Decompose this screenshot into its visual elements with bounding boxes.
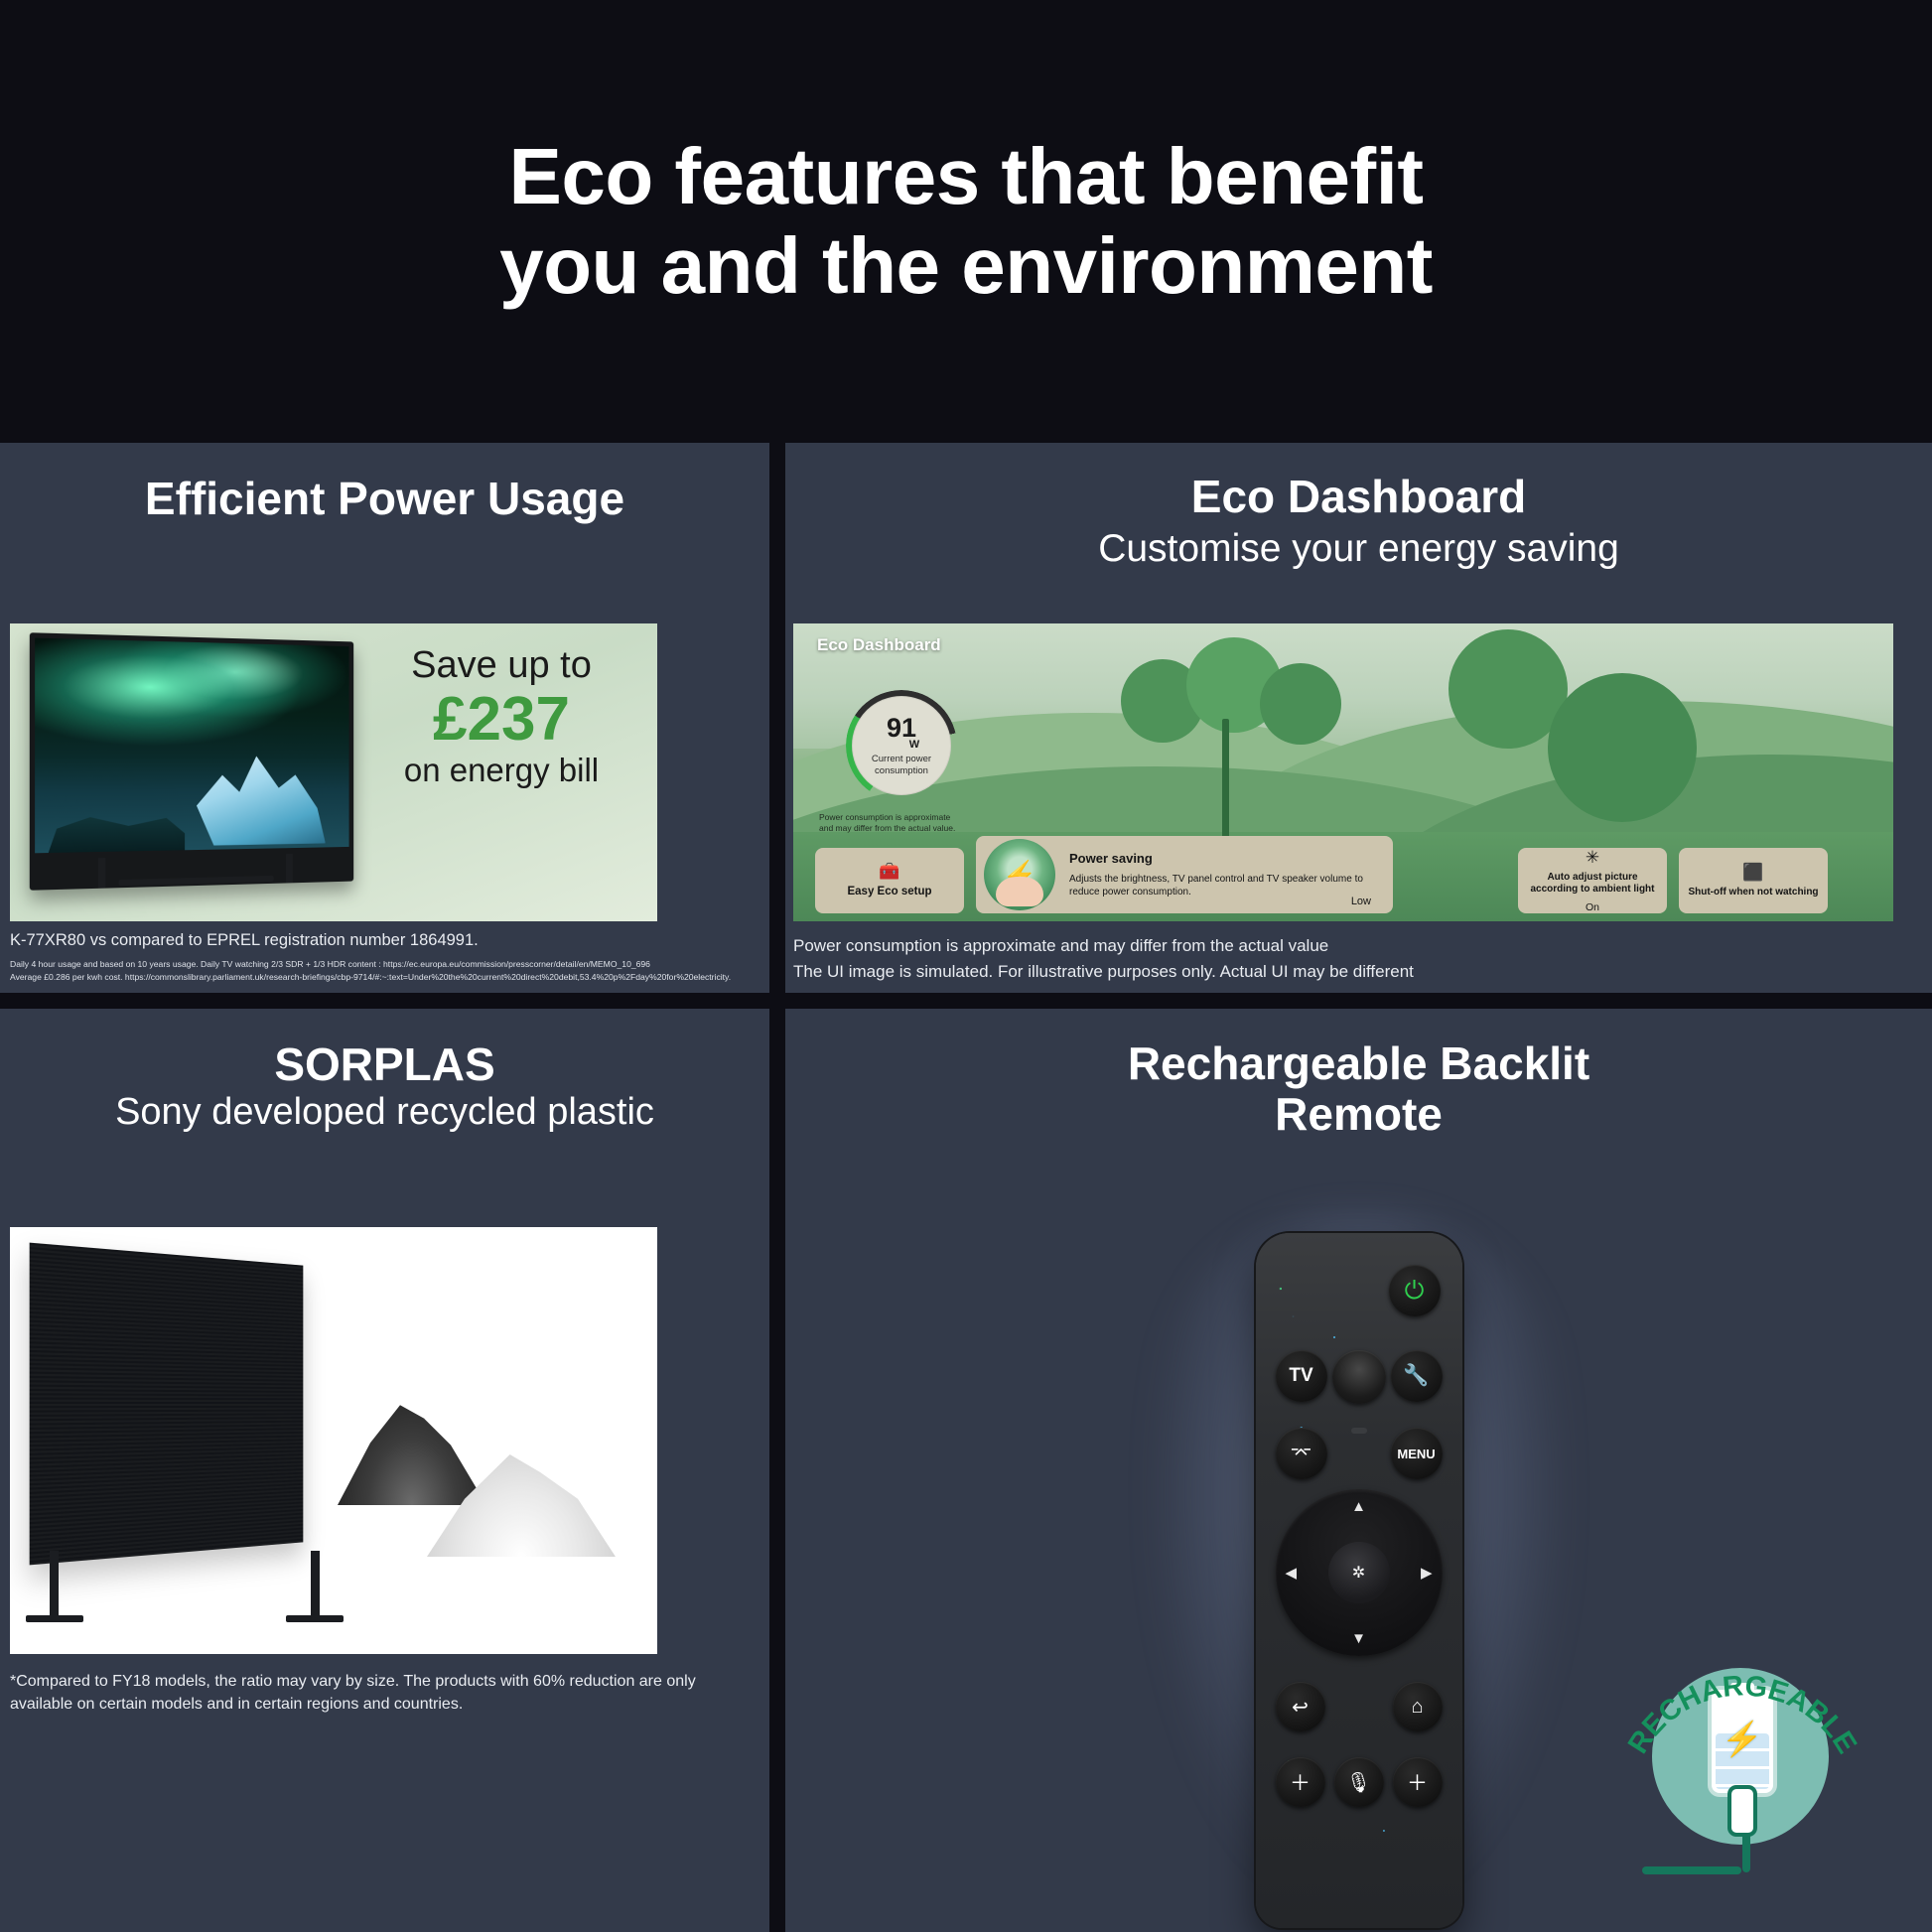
gauge-caption: Current power consumption <box>872 754 931 777</box>
ir-indicator <box>1351 1428 1367 1434</box>
savings-amount: £237 <box>363 687 639 752</box>
feature-grid: Efficient Power Usage Save up to <box>0 443 1932 1932</box>
remote-title-line-2: Remote <box>785 1089 1932 1140</box>
plus-icon-volume: ＋ <box>1290 1767 1311 1797</box>
sorplas-footnote-line-2: available on certain models and in certa… <box>10 1693 705 1716</box>
card-shut-off-not-watching[interactable]: ⬛ Shut-off when not watching <box>1679 848 1828 913</box>
hands-shape <box>996 877 1043 906</box>
gauge-face: 91 W Current power consumption <box>852 696 951 795</box>
gauge-value: 91 <box>887 715 916 742</box>
power-saving-text: Power saving Adjusts the brightness, TV … <box>1069 851 1367 899</box>
settings-button[interactable]: 🔧 <box>1391 1350 1443 1402</box>
volume-up-button[interactable]: ＋ <box>1276 1757 1325 1807</box>
dpad-left[interactable]: ◀ <box>1286 1564 1298 1582</box>
hero-banner: Eco features that benefit you and the en… <box>0 0 1932 443</box>
tree-trunk <box>1222 719 1229 842</box>
power-consumption-gauge: 91 W Current power consumption <box>846 690 957 801</box>
panel-subtitle-sorplas: Sony developed recycled plastic <box>0 1091 769 1134</box>
dpad-control[interactable]: ▲ ▼ ◀ ▶ ✲ <box>1276 1489 1443 1656</box>
remote-title-line-1: Rechargeable Backlit <box>785 1038 1932 1089</box>
footnote-line-2: Average £0.286 per kwh cost. https://com… <box>10 971 759 984</box>
panel-subtitle-eco-dashboard: Customise your energy saving <box>785 527 1932 571</box>
tv-foot-bar-right <box>286 1615 344 1622</box>
back-arrow-icon: ↩ <box>1292 1695 1309 1720</box>
hero-line-1: Eco features that benefit <box>499 132 1433 221</box>
panel-eco-dashboard: Eco Dashboard Customise your energy savi… <box>785 443 1932 993</box>
screen-off-icon: ⬛ <box>1742 864 1763 881</box>
efficient-power-image: Save up to £237 on energy bill <box>10 623 657 921</box>
panel-title-eco-dashboard: Eco Dashboard <box>785 473 1932 521</box>
card-label-shut-off: Shut-off when not watching <box>1688 887 1818 898</box>
card-desc-power-saving: Adjusts the brightness, TV panel control… <box>1069 873 1367 899</box>
tv-rear-panel <box>30 1243 304 1566</box>
gauge-caption-line-2: consumption <box>872 765 931 777</box>
plus-icon-channel: ＋ <box>1407 1767 1428 1797</box>
ui-note-line-1: Power consumption is approximate <box>819 812 1018 823</box>
tv-button-label: TV <box>1289 1365 1312 1387</box>
savings-line-2: on energy bill <box>363 752 639 790</box>
tv-foot-left <box>98 858 105 889</box>
card-power-saving[interactable]: ⚡ Power saving Adjusts the brightness, T… <box>976 836 1393 913</box>
menu-button-label: MENU <box>1397 1447 1435 1461</box>
dark-plastic-pellet-pile <box>338 1394 486 1505</box>
card-state-auto-adjust: On <box>1586 901 1599 913</box>
badge-text: RECHARGEABLE <box>1622 1670 1863 1759</box>
tree-foliage-5 <box>1548 673 1697 822</box>
input-icon: ⌤ <box>1291 1443 1312 1465</box>
eco-note-line-2: The UI image is simulated. For illustrat… <box>793 959 1925 985</box>
input-button[interactable]: ⌤ <box>1276 1428 1327 1479</box>
menu-button[interactable]: MENU <box>1391 1428 1443 1479</box>
dpad-select[interactable]: ✲ <box>1328 1542 1390 1603</box>
efficient-power-footnote-main: K-77XR80 vs compared to EPREL registrati… <box>10 931 745 950</box>
efficient-power-footnotes: Daily 4 hour usage and based on 10 years… <box>10 958 759 985</box>
eco-dashboard-notes: Power consumption is approximate and may… <box>793 933 1925 984</box>
select-icon: ✲ <box>1352 1563 1365 1583</box>
card-auto-adjust-picture[interactable]: ✳ Auto adjust picture according to ambie… <box>1518 848 1667 913</box>
panel-rechargeable-remote: Rechargeable Backlit Remote ⏻ TV 🔧 <box>785 1009 1932 1932</box>
microphone-icon: 🎙 <box>1346 1770 1371 1795</box>
dpad-down[interactable]: ▼ <box>1351 1630 1366 1647</box>
ui-disclaimer-note: Power consumption is approximate and may… <box>819 812 1018 835</box>
hero-line-2: you and the environment <box>499 221 1433 311</box>
savings-callout: Save up to £237 on energy bill <box>363 645 639 790</box>
remote-image: ⏻ TV 🔧 ⌤ MENU <box>785 1175 1932 1932</box>
tv-bezel <box>30 632 353 891</box>
wrench-icon: 🔧 <box>1403 1364 1429 1388</box>
panel-efficient-power-usage: Efficient Power Usage Save up to <box>0 443 769 993</box>
shoreline-shape <box>49 808 186 853</box>
rechargeable-badge: ⚡ RECHARGEABLE <box>1618 1632 1866 1880</box>
home-icon: ⌂ <box>1411 1696 1423 1719</box>
sorplas-footnote: *Compared to FY18 models, the ratio may … <box>10 1670 705 1716</box>
footnote-line-1: Daily 4 hour usage and based on 10 years… <box>10 958 759 971</box>
gauge-unit: W <box>909 739 919 751</box>
eco-dashboard-card-bar: 🧰 Easy Eco setup ⚡ Power saving Adjusts … <box>793 836 1893 921</box>
panel-title-sorplas: SORPLAS <box>0 1040 769 1089</box>
panel-sorplas: SORPLAS Sony developed recycled plastic … <box>0 1009 769 1932</box>
card-easy-eco-setup[interactable]: 🧰 Easy Eco setup <box>815 848 964 913</box>
dpad-up[interactable]: ▲ <box>1351 1498 1366 1515</box>
tv-button[interactable]: TV <box>1276 1350 1327 1402</box>
mic-button[interactable] <box>1332 1350 1386 1404</box>
card-label-auto-adjust: Auto adjust picture according to ambient… <box>1526 872 1659 896</box>
panel-title-remote: Rechargeable Backlit Remote <box>785 1038 1932 1139</box>
back-button[interactable]: ↩ <box>1276 1682 1325 1731</box>
card-label-easy-eco-setup: Easy Eco setup <box>847 886 931 899</box>
tv-legs-group <box>40 1545 328 1622</box>
toolbox-icon: 🧰 <box>879 863 899 880</box>
card-label-power-saving: Power saving <box>1069 851 1367 866</box>
remote-control-body: ⏻ TV 🔧 ⌤ MENU <box>1256 1233 1462 1928</box>
savings-line-1: Save up to <box>363 645 639 687</box>
tv-leg-left <box>50 1551 59 1622</box>
gauge-caption-line-1: Current power <box>872 754 931 765</box>
badge-arc-text: RECHARGEABLE <box>1618 1632 1866 1880</box>
ambient-light-icon: ✳ <box>1586 849 1599 866</box>
power-icon: ⏻ <box>1405 1277 1425 1306</box>
tv-foot-right <box>286 854 293 884</box>
iceberg-shape <box>185 751 326 846</box>
sorplas-footnote-line-1: *Compared to FY18 models, the ratio may … <box>10 1670 705 1693</box>
power-button[interactable]: ⏻ <box>1389 1265 1441 1316</box>
ui-note-line-2: and may differ from the actual value. <box>819 823 1018 834</box>
page-title: Eco features that benefit you and the en… <box>499 132 1433 310</box>
panel-title-efficient-power: Efficient Power Usage <box>0 475 769 523</box>
card-state-power-saving: Low <box>1351 896 1371 907</box>
channel-up-button[interactable]: ＋ <box>1393 1757 1443 1807</box>
sorplas-image <box>10 1227 657 1654</box>
tv-screen-aurora <box>35 638 348 854</box>
bolt-hands-icon: ⚡ <box>984 839 1055 910</box>
infographic-page: Eco features that benefit you and the en… <box>0 0 1932 1932</box>
eco-note-line-1: Power consumption is approximate and may… <box>793 933 1925 959</box>
eco-dashboard-ui-screenshot: Eco Dashboard 91 W Current power consump… <box>793 623 1893 921</box>
dpad-right[interactable]: ▶ <box>1421 1564 1433 1582</box>
home-button[interactable]: ⌂ <box>1393 1682 1443 1731</box>
tv-product-image <box>34 637 361 886</box>
voice-assistant-button[interactable]: 🎙 <box>1334 1757 1384 1807</box>
tv-foot-bar-left <box>26 1615 83 1622</box>
eco-dashboard-screen-label: Eco Dashboard <box>817 635 941 655</box>
tv-stand <box>118 876 274 886</box>
tree-foliage-3 <box>1260 663 1341 745</box>
tv-leg-right <box>311 1551 320 1622</box>
